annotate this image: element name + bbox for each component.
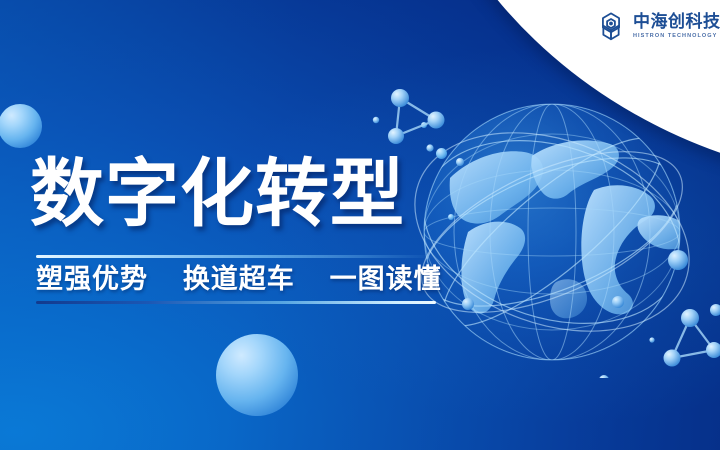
headline-block: 数字化转型 塑强优势 换道超车 一图读懂 [0,0,470,450]
divider-rule-bottom [36,301,436,304]
divider-rule-top [36,255,436,258]
brand-logo: 中海创科技 HISTRON TECHNOLOGY [594,6,714,48]
network-node-cluster-bottom [648,288,720,372]
subtitle-part-3: 一图读懂 [330,264,442,295]
page-title: 数字化转型 [30,157,405,231]
brand-name-cn: 中海创科技 [633,14,720,31]
brand-name-en: HISTRON TECHNOLOGY [633,34,720,39]
poster-canvas: 中海创科技 HISTRON TECHNOLOGY 数字化转型 塑强优势 换道超车… [0,0,720,450]
brand-logo-text: 中海创科技 HISTRON TECHNOLOGY [633,14,720,39]
subtitle-part-2: 换道超车 [183,264,295,295]
histron-hexagon-logo-icon [594,10,628,44]
subtitle-part-1: 塑强优势 [36,264,148,295]
page-subtitle: 塑强优势 换道超车 一图读懂 [36,263,442,297]
